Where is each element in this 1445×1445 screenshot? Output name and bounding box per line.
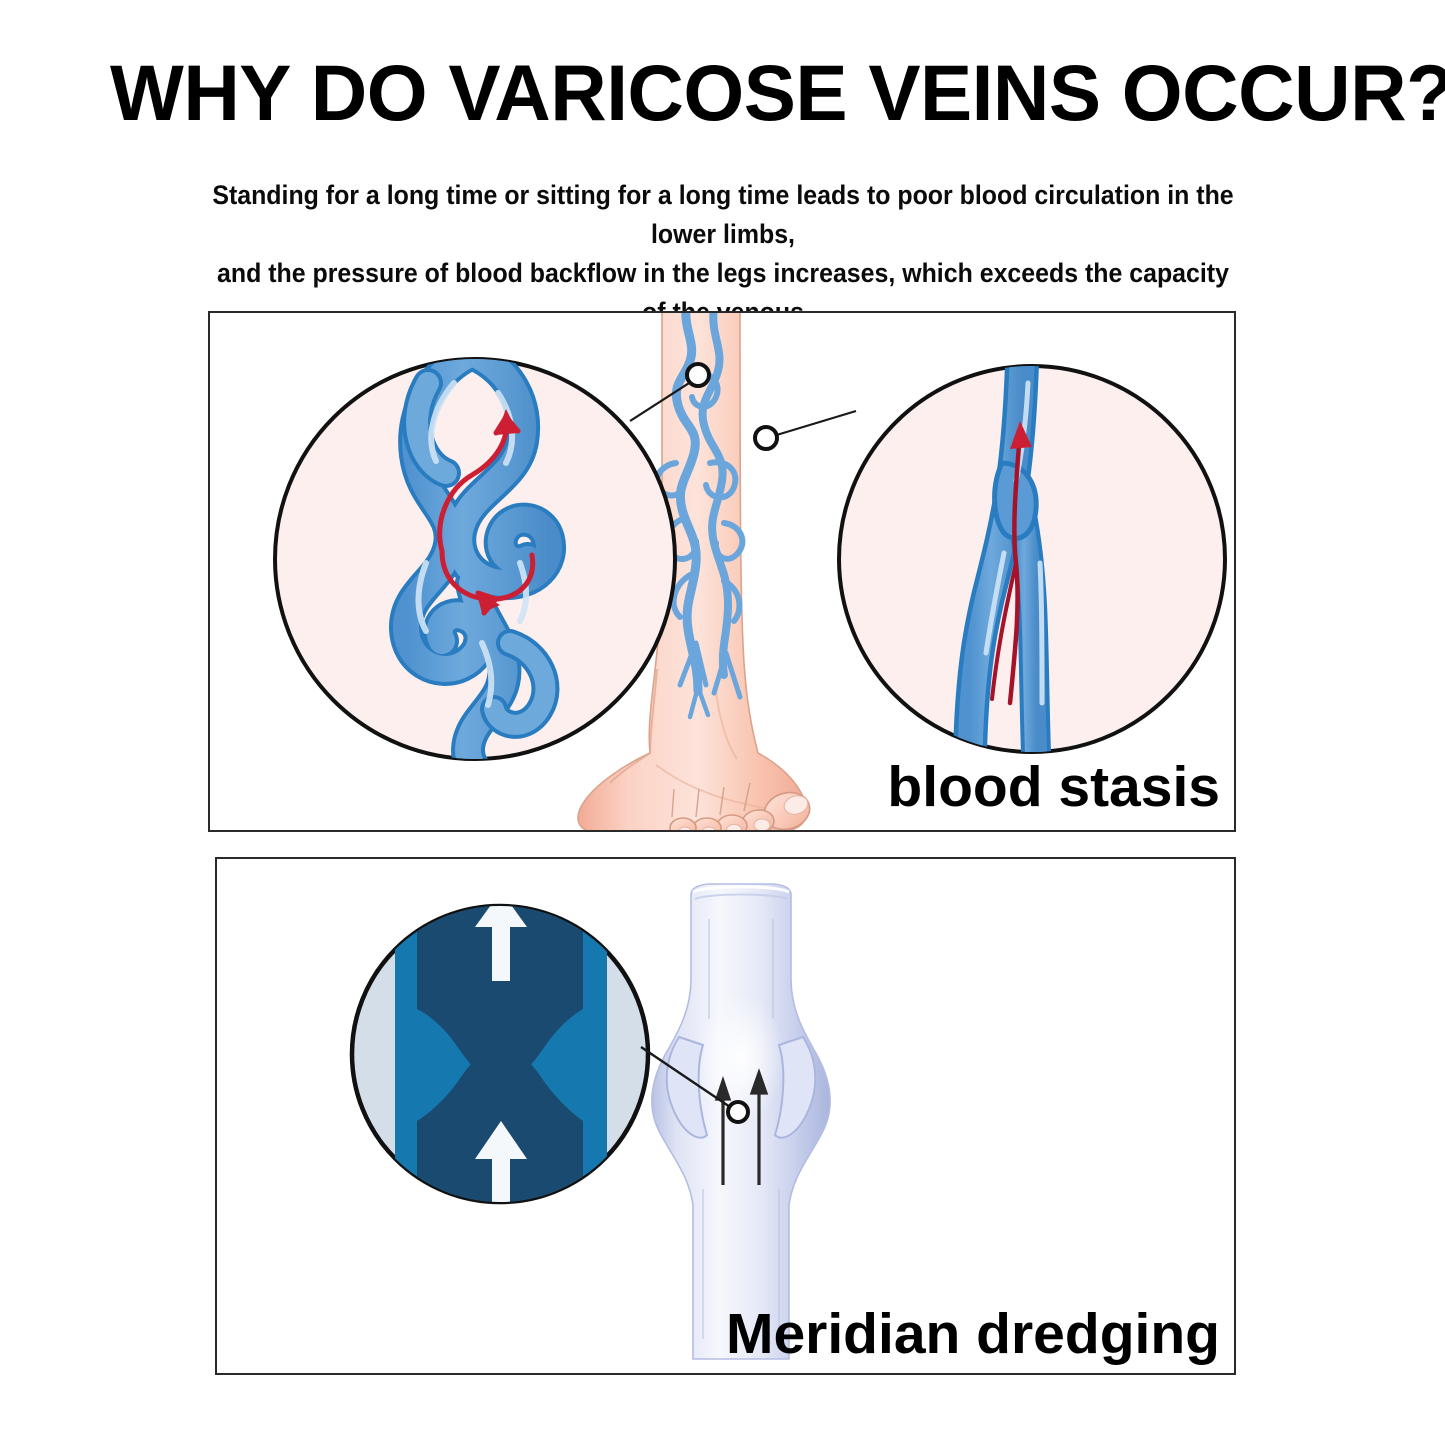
- panel-blood-stasis: blood stasis: [208, 311, 1236, 832]
- magnifier-valve-cross-section: [352, 879, 648, 1239]
- marker-dot-varicose: [687, 364, 709, 386]
- caption-blood-stasis: blood stasis: [887, 754, 1220, 820]
- infographic-page: WHY DO VARICOSE VEINS OCCUR? Standing fo…: [0, 0, 1445, 1445]
- marker-dot-healthy: [755, 427, 777, 449]
- meridian-dredging-illustration: [217, 859, 1234, 1373]
- panel-meridian-dredging: Meridian dredging: [215, 857, 1236, 1375]
- caption-meridian-dredging: Meridian dredging: [726, 1301, 1220, 1367]
- magnifier-varicose-vein: [275, 353, 675, 777]
- magnifier-healthy-vein: [839, 363, 1225, 753]
- page-title: WHY DO VARICOSE VEINS OCCUR?: [110, 52, 1338, 134]
- subtitle-line-1: Standing for a long time or sitting for …: [212, 180, 1233, 249]
- leader-line-right: [770, 411, 856, 437]
- marker-dot-valve: [728, 1102, 748, 1122]
- blood-stasis-illustration: [210, 313, 1234, 830]
